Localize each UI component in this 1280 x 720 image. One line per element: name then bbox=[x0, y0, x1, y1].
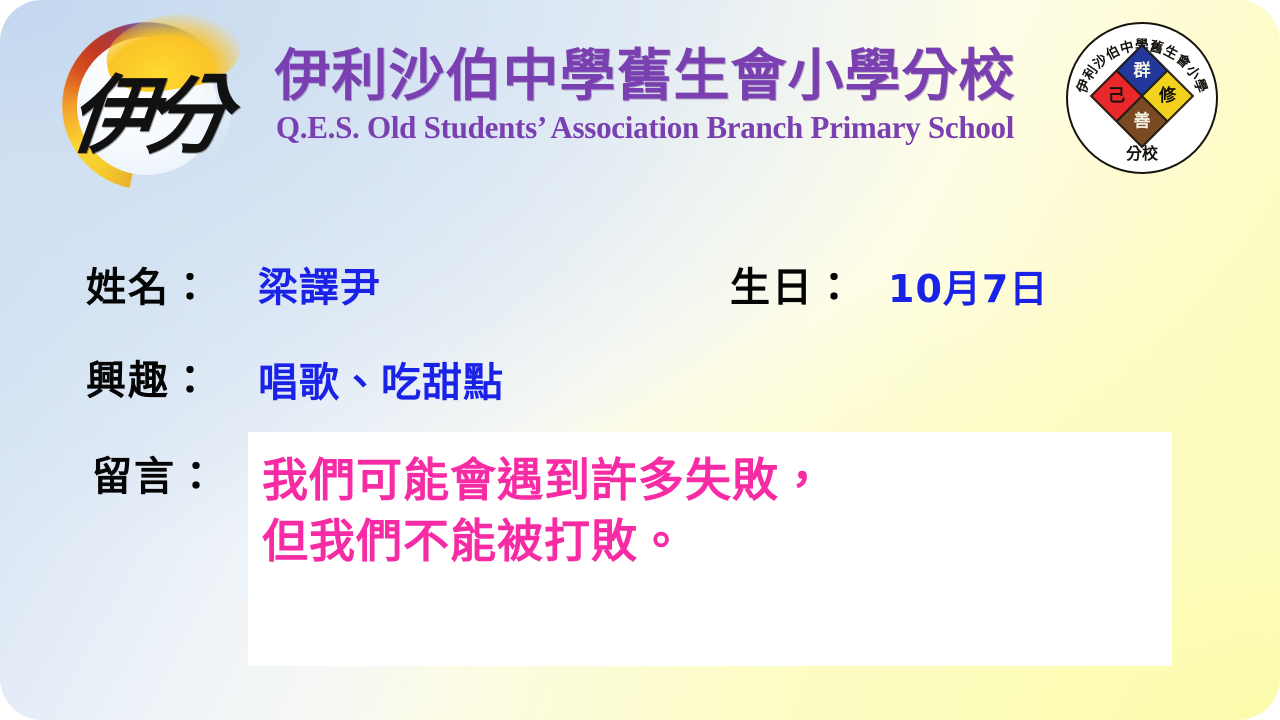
school-name-block: 伊利沙伯中學舊生會小學分校 Q.E.S. Old Students’ Assoc… bbox=[250, 48, 1040, 146]
crest-quadrant-bottom-char: 己 bbox=[1108, 88, 1125, 105]
card-header: 伊分 伊利沙伯中學舊生會小學分校 Q.E.S. Old Students’ As… bbox=[0, 0, 1280, 200]
crest-quadrant-right-char: 善 bbox=[1134, 113, 1151, 130]
birthday-value: 10月7日 bbox=[888, 258, 1048, 313]
student-profile-card: 伊分 伊利沙伯中學舊生會小學分校 Q.E.S. Old Students’ As… bbox=[0, 0, 1280, 720]
message-label: 留言： bbox=[92, 444, 218, 502]
school-name-chinese: 伊利沙伯中學舊生會小學分校 bbox=[250, 48, 1040, 107]
birthday-label: 生日： bbox=[730, 255, 856, 313]
hobby-label: 興趣： bbox=[86, 348, 212, 406]
hobby-value: 唱歌、吃甜點 bbox=[258, 350, 504, 408]
crest-quadrant-top-char: 修 bbox=[1159, 88, 1176, 105]
school-name-english: Q.E.S. Old Students’ Association Branch … bbox=[262, 109, 1028, 146]
message-panel: 我們可能會遇到許多失敗， 但我們不能被打敗。 bbox=[248, 432, 1172, 666]
brush-circle-logo-icon: 伊分 bbox=[62, 22, 232, 190]
crest-quadrant-left-char: 群 bbox=[1134, 62, 1151, 79]
name-value: 梁譯尹 bbox=[258, 255, 381, 313]
logo-calligraphy-text: 伊分 bbox=[52, 24, 240, 192]
name-label: 姓名： bbox=[86, 255, 212, 313]
school-crest-icon: 伊利沙伯中學舊生會小學 分校 群 修 己 善 bbox=[1066, 22, 1218, 174]
message-value: 我們可能會遇到許多失敗， 但我們不能被打敗。 bbox=[262, 450, 1152, 571]
